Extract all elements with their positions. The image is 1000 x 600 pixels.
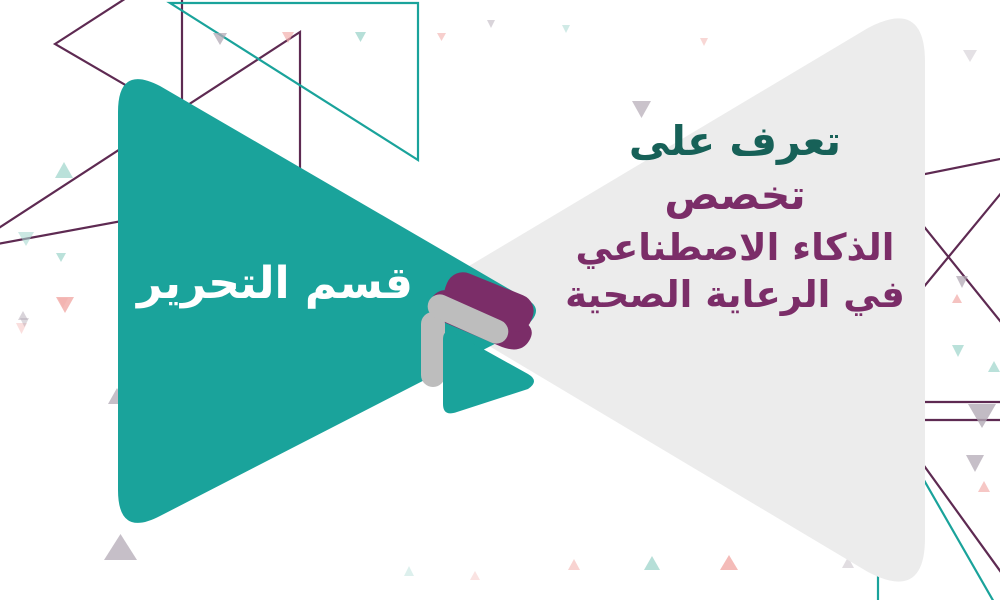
play-arrow-logo <box>0 0 1000 600</box>
poster-canvas: قسم التحرير تعرف على تخصص الذكاء الاصطنا… <box>0 0 1000 600</box>
